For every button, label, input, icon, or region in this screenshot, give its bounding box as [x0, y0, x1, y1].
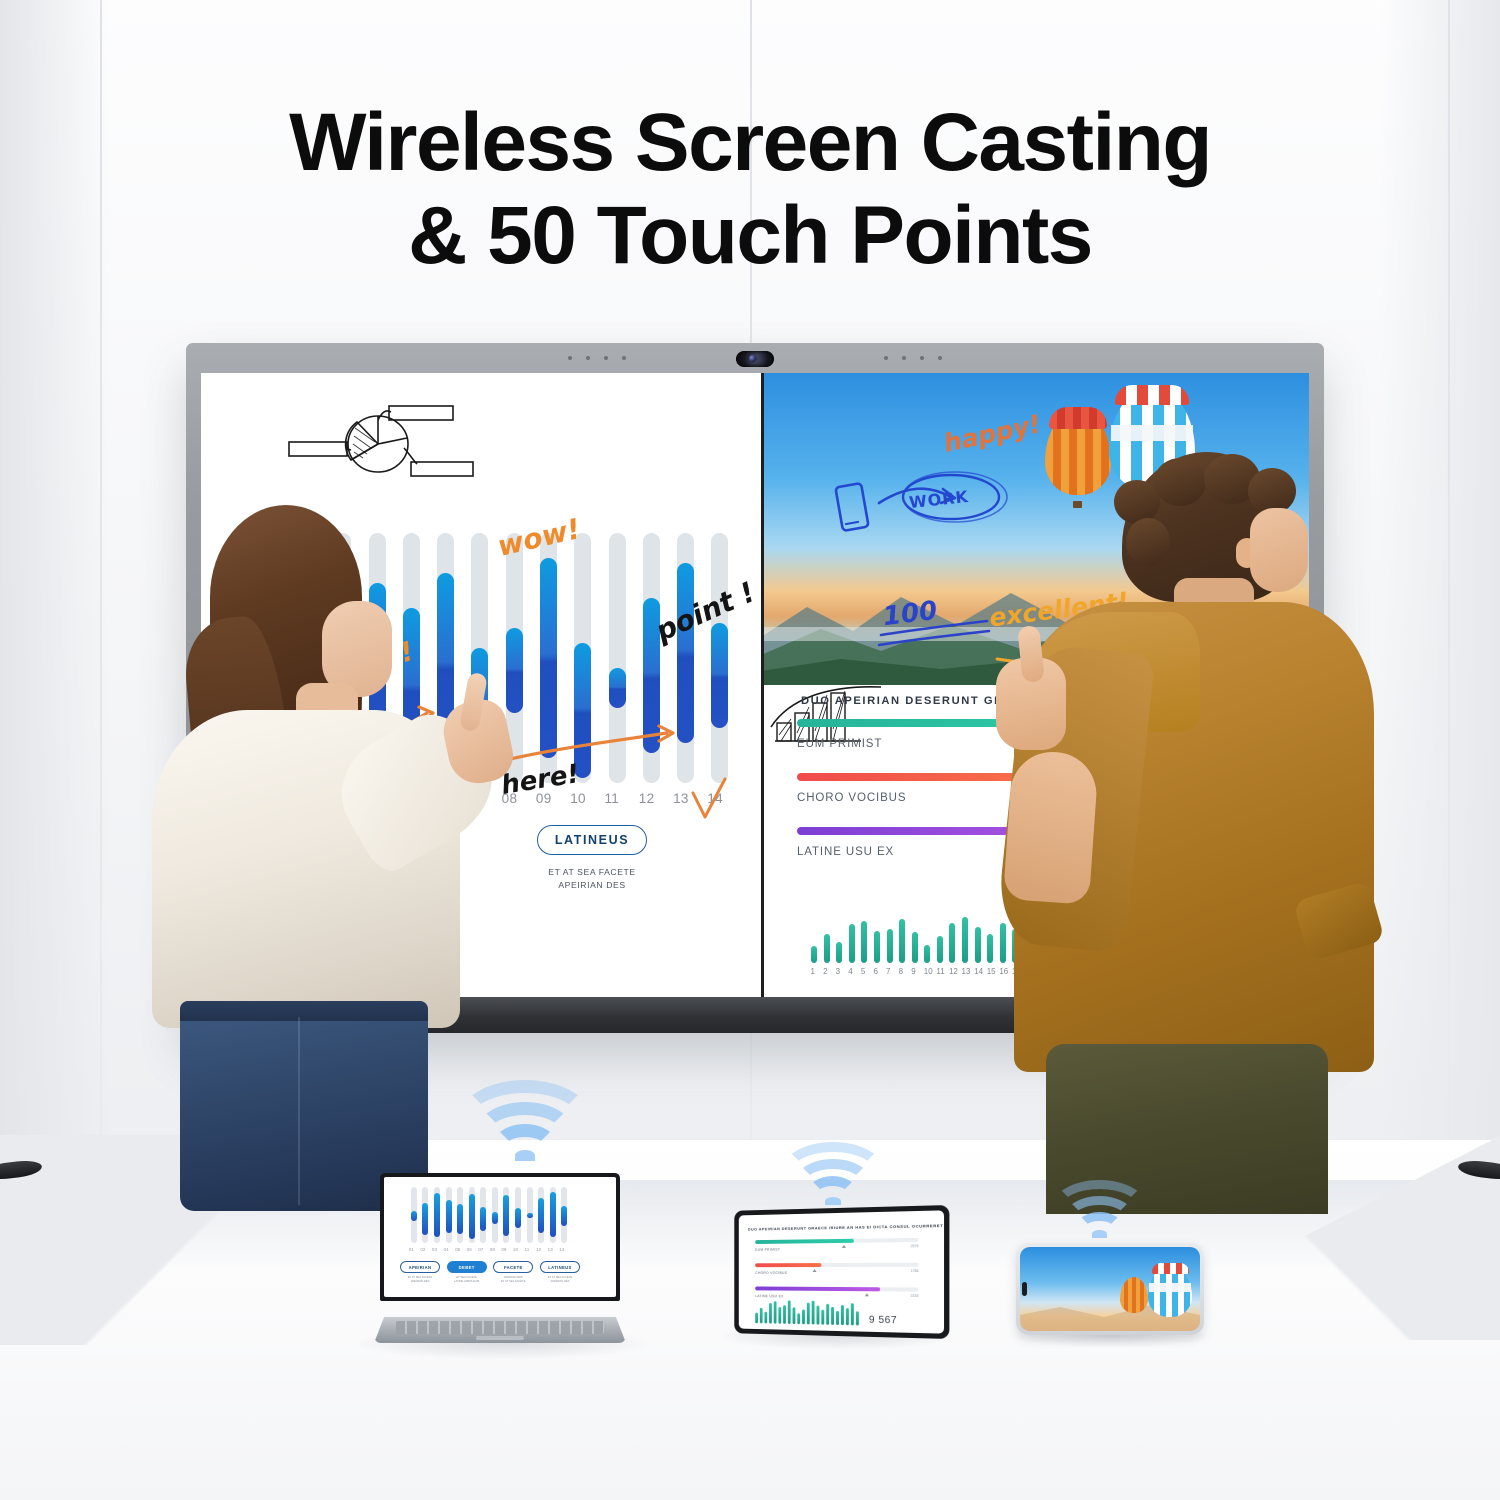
laptop-button-caption: ET AT SEA FACETE APEIRIAN DES — [400, 1276, 440, 1284]
laptop-chart-bar — [538, 1198, 544, 1233]
axis-tick-label: 10 — [570, 791, 586, 806]
laptop-trackpad[interactable] — [476, 1336, 524, 1340]
man-hair-curl — [1126, 518, 1170, 566]
laptop-device[interactable]: 0102030405060708091011121314 APEIRIANET … — [374, 1173, 626, 1343]
mini-chart-bar — [836, 942, 842, 963]
laptop-latineus-button[interactable]: LATINEUSET AT SEA FACETE APEIRIAN DES — [540, 1261, 580, 1284]
cast-wave-dot — [515, 1150, 535, 1161]
chart-bar — [574, 643, 591, 778]
tablet-mini-bar — [807, 1303, 810, 1324]
laptop-debet-button[interactable]: DEBETET SEA FACETE LATINE LIBRIS EUM — [447, 1261, 487, 1284]
mini-chart-bar — [975, 927, 981, 963]
mini-axis-label: 8 — [899, 967, 903, 976]
mini-chart-bar — [937, 936, 943, 963]
laptop-chart-bar — [446, 1200, 452, 1232]
laptop-button-row[interactable]: APEIRIANET AT SEA FACETE APEIRIAN DESDEB… — [400, 1261, 580, 1284]
person-man — [1004, 452, 1396, 1212]
tablet-bar-value: 2575 — [911, 1244, 919, 1248]
mini-axis-label: 3 — [836, 967, 840, 976]
mini-axis-label: 12 — [949, 967, 958, 976]
chart-bar — [540, 558, 557, 758]
dashboard-mini-axis: 1234567891011121314151617 — [809, 967, 1023, 981]
tablet-device[interactable]: DUO APEIRIAN DESERUNT GRAECE IRIURE AN H… — [728, 1208, 946, 1336]
tablet-mini-bar — [836, 1311, 839, 1325]
latineus-button[interactable]: LATINEUS — [537, 825, 647, 855]
mini-chart-bar — [811, 946, 817, 963]
laptop-chart — [408, 1187, 570, 1243]
phone-device[interactable] — [1016, 1243, 1204, 1335]
laptop-chart-bar — [503, 1195, 509, 1236]
tablet-bar-track — [755, 1263, 918, 1267]
mini-chart-bar — [824, 934, 830, 963]
mini-axis-label: 11 — [936, 967, 944, 976]
cast-wave-dot — [1092, 1230, 1106, 1238]
laptop-axis-label: 11 — [525, 1247, 530, 1252]
axis-tick-label: 08 — [502, 791, 518, 806]
cast-wave-arc — [807, 1176, 858, 1212]
tablet-mini-bar — [774, 1301, 777, 1323]
tablet-bar-fill — [755, 1263, 821, 1267]
man-face — [1250, 508, 1308, 592]
tablet-big-number: 9 567 — [869, 1315, 897, 1327]
phone-body — [1016, 1243, 1204, 1335]
tablet-mini-bar — [851, 1303, 854, 1325]
balloon-blue-band — [1111, 425, 1193, 441]
laptop-axis-label: 03 — [432, 1247, 437, 1252]
scene: Wireless Screen Casting & 50 Touch Point… — [0, 0, 1500, 1500]
mini-chart-bar — [962, 917, 968, 963]
laptop-chart-bar — [469, 1194, 475, 1239]
laptop-button-caption: ET AT SEA FACETE APEIRIAN DES — [540, 1276, 580, 1284]
laptop-axis-label: 04 — [444, 1247, 449, 1252]
axis-tick-label: 09 — [536, 791, 552, 806]
laptop-chart-bar — [411, 1211, 417, 1221]
camera-icon — [736, 351, 774, 367]
woman-waistband — [180, 1001, 428, 1021]
tablet-title: DUO APEIRIAN DESERUNT GRAECE IRIURE AN H… — [748, 1223, 944, 1232]
mini-chart-bar — [887, 929, 893, 963]
tablet-screen[interactable]: DUO APEIRIAN DESERUNT GRAECE IRIURE AN H… — [739, 1210, 944, 1333]
laptop-chart-bar — [527, 1213, 533, 1219]
dashboard-mini-chart — [809, 911, 1023, 963]
balloon-orange-top — [1049, 407, 1107, 429]
laptop-axis-label: 14 — [559, 1247, 564, 1252]
latineus-caption: ET AT SEA FACETE APEIRIAN DES — [508, 866, 676, 892]
tablet-mini-bar — [797, 1313, 800, 1324]
tablet-bar-value: 3163 — [911, 1294, 919, 1298]
laptop-axis-label: 06 — [467, 1247, 472, 1252]
mini-axis-label: 14 — [974, 967, 983, 976]
laptop-chart-bar — [422, 1203, 428, 1235]
tablet-bar-marker — [813, 1269, 817, 1272]
tablet-bar-fill — [755, 1239, 854, 1244]
mini-chart-bar — [899, 919, 905, 963]
tablet-mini-bar — [826, 1304, 829, 1325]
woman-jeans-seam — [298, 1017, 300, 1205]
laptop-lid: 0102030405060708091011121314 APEIRIANET … — [380, 1173, 620, 1301]
laptop-chart-bar — [550, 1192, 556, 1238]
tablet-body: DUO APEIRIAN DESERUNT GRAECE IRIURE AN H… — [734, 1205, 949, 1339]
mini-chart-bar — [949, 923, 955, 963]
laptop-axis-label: 08 — [490, 1247, 495, 1252]
axis-tick-label: 14 — [707, 791, 723, 806]
tablet-mini-bar — [856, 1311, 859, 1326]
laptop-button-label: DEBET — [447, 1261, 487, 1273]
mini-axis-label: 13 — [962, 967, 971, 976]
tablet-bar-track — [755, 1286, 918, 1291]
laptop-button-caption: ET SEA FACETE LATINE LIBRIS EUM — [447, 1276, 487, 1284]
tablet-mini-bar — [755, 1313, 758, 1323]
axis-tick-label: 13 — [673, 791, 689, 806]
display-top-bezel — [186, 343, 1324, 373]
mini-chart-bar — [987, 934, 993, 963]
microphone-array-left — [568, 356, 626, 360]
tablet-bar-marker — [865, 1293, 869, 1296]
laptop-axis-label: 10 — [513, 1247, 518, 1252]
tablet-bar-value: 1766 — [911, 1269, 919, 1273]
laptop-button-label: APEIRIAN — [400, 1261, 440, 1273]
mini-chart-bar — [861, 921, 867, 963]
axis-tick-label: 11 — [605, 791, 620, 806]
laptop-button-label: FACETE — [493, 1261, 533, 1273]
tablet-bar-list: EUM PRIMIST2575CHORO VOCIBUS1766LATINE U… — [739, 1210, 944, 1215]
tablet-mini-bar — [764, 1311, 767, 1323]
laptop-chart-bar — [480, 1207, 486, 1231]
mini-axis-label: 9 — [911, 967, 915, 976]
chart-bar — [609, 668, 626, 708]
microphone-array-right — [884, 356, 942, 360]
chart-bar — [677, 563, 694, 743]
mini-axis-label: 2 — [823, 967, 827, 976]
button-group-latineus[interactable]: LATINEUS ET AT SEA FACETE APEIRIAN DES — [508, 825, 676, 892]
phone-screen[interactable] — [1020, 1247, 1200, 1331]
mini-chart-bar — [849, 924, 855, 963]
phone-camera-icon — [1022, 1282, 1027, 1296]
phone-balloon-blue-top — [1152, 1263, 1189, 1274]
tablet-mini-bar — [831, 1307, 834, 1325]
chart-bar — [643, 598, 660, 753]
mini-axis-label: 7 — [886, 967, 890, 976]
laptop-chart-bar — [434, 1193, 440, 1238]
balloon-blue-top — [1115, 385, 1189, 405]
tablet-mini-bar — [846, 1308, 849, 1325]
annotation-work: WORK — [908, 487, 970, 512]
laptop-axis-label: 13 — [548, 1247, 553, 1252]
tablet-mini-bar — [769, 1303, 772, 1324]
laptop-base — [374, 1317, 626, 1343]
panel-divider — [761, 373, 764, 997]
mini-axis-label: 15 — [987, 967, 996, 976]
mini-chart-bar — [924, 945, 930, 963]
tablet-mini-bar — [788, 1300, 791, 1324]
chart-bar — [711, 623, 728, 728]
laptop-chart-bar — [457, 1204, 463, 1234]
laptop-axis-label: 01 — [409, 1247, 414, 1252]
man-forearm — [1003, 749, 1099, 905]
tablet-bar-row: CHORO VOCIBUS1766 — [755, 1263, 918, 1275]
cast-wave-arc — [492, 1124, 558, 1170]
laptop-keyboard[interactable] — [396, 1321, 604, 1334]
tablet-mini-bar — [812, 1301, 815, 1324]
tablet-mini-bar — [821, 1309, 824, 1324]
tablet-bar-marker — [842, 1244, 846, 1247]
laptop-screen[interactable]: 0102030405060708091011121314 APEIRIANET … — [384, 1177, 616, 1297]
laptop-chart-bar — [492, 1212, 498, 1224]
pie-sketch-icon — [271, 398, 481, 493]
laptop-apeirian-button[interactable]: APEIRIANET AT SEA FACETE APEIRIAN DES — [400, 1261, 440, 1284]
laptop-facete-button[interactable]: FACETEAPEIRIAN DES ET AT SEA FACETE — [493, 1261, 533, 1284]
laptop-button-caption: APEIRIAN DES ET AT SEA FACETE — [493, 1276, 533, 1284]
cast-wave-dot — [825, 1197, 841, 1206]
man-hair-curl — [1154, 458, 1206, 506]
laptop-button-label: LATINEUS — [540, 1261, 580, 1273]
laptop-chart-bar — [515, 1208, 521, 1228]
laptop-axis-label: 07 — [478, 1247, 483, 1252]
tablet-bar-fill — [755, 1286, 880, 1291]
mini-axis-label: 6 — [873, 967, 877, 976]
tablet-mini-bar — [793, 1308, 796, 1325]
cast-wave-arc — [1076, 1212, 1123, 1244]
mini-chart-bar — [874, 931, 880, 963]
mini-axis-label: 1 — [811, 967, 815, 976]
chart-bar — [506, 628, 523, 713]
tablet-bar-row: EUM PRIMIST2575 — [755, 1238, 918, 1252]
phone-balloon-blue-band — [1149, 1283, 1191, 1292]
tablet-mini-bar — [760, 1308, 763, 1323]
man-hair-curl — [1114, 480, 1160, 524]
tablet-mini-bar — [778, 1307, 781, 1324]
tablet-mini-bar — [841, 1305, 844, 1325]
mini-axis-label: 10 — [924, 967, 933, 976]
axis-tick-label: 12 — [639, 791, 655, 806]
mini-axis-label: 5 — [861, 967, 865, 976]
laptop-axis-label: 09 — [501, 1247, 506, 1252]
laptop-chart-bar — [561, 1206, 567, 1226]
laptop-axis-label: 12 — [536, 1247, 541, 1252]
phone-balloon-orange — [1120, 1277, 1148, 1313]
page-title: Wireless Screen Casting & 50 Touch Point… — [0, 96, 1500, 283]
tablet-mini-bar — [783, 1306, 786, 1324]
annotation-happy: happy! — [941, 409, 1043, 458]
tablet-bar-track — [755, 1238, 918, 1244]
chart-track — [609, 533, 626, 783]
laptop-axis-label: 05 — [455, 1247, 460, 1252]
tablet-bar-label: CHORO VOCIBUS — [755, 1271, 918, 1275]
laptop-chart-axis: 0102030405060708091011121314 — [408, 1247, 570, 1255]
tablet-mini-bar — [816, 1306, 819, 1325]
mini-chart-bar — [912, 932, 918, 963]
man-pointing-finger — [1017, 625, 1045, 683]
tablet-mini-chart — [755, 1298, 861, 1325]
laptop-axis-label: 02 — [420, 1247, 425, 1252]
person-woman — [146, 505, 476, 1205]
tablet-mini-bar — [802, 1310, 805, 1325]
mini-axis-label: 4 — [848, 967, 852, 976]
tablet-bar-label: EUM PRIMIST — [755, 1246, 918, 1252]
